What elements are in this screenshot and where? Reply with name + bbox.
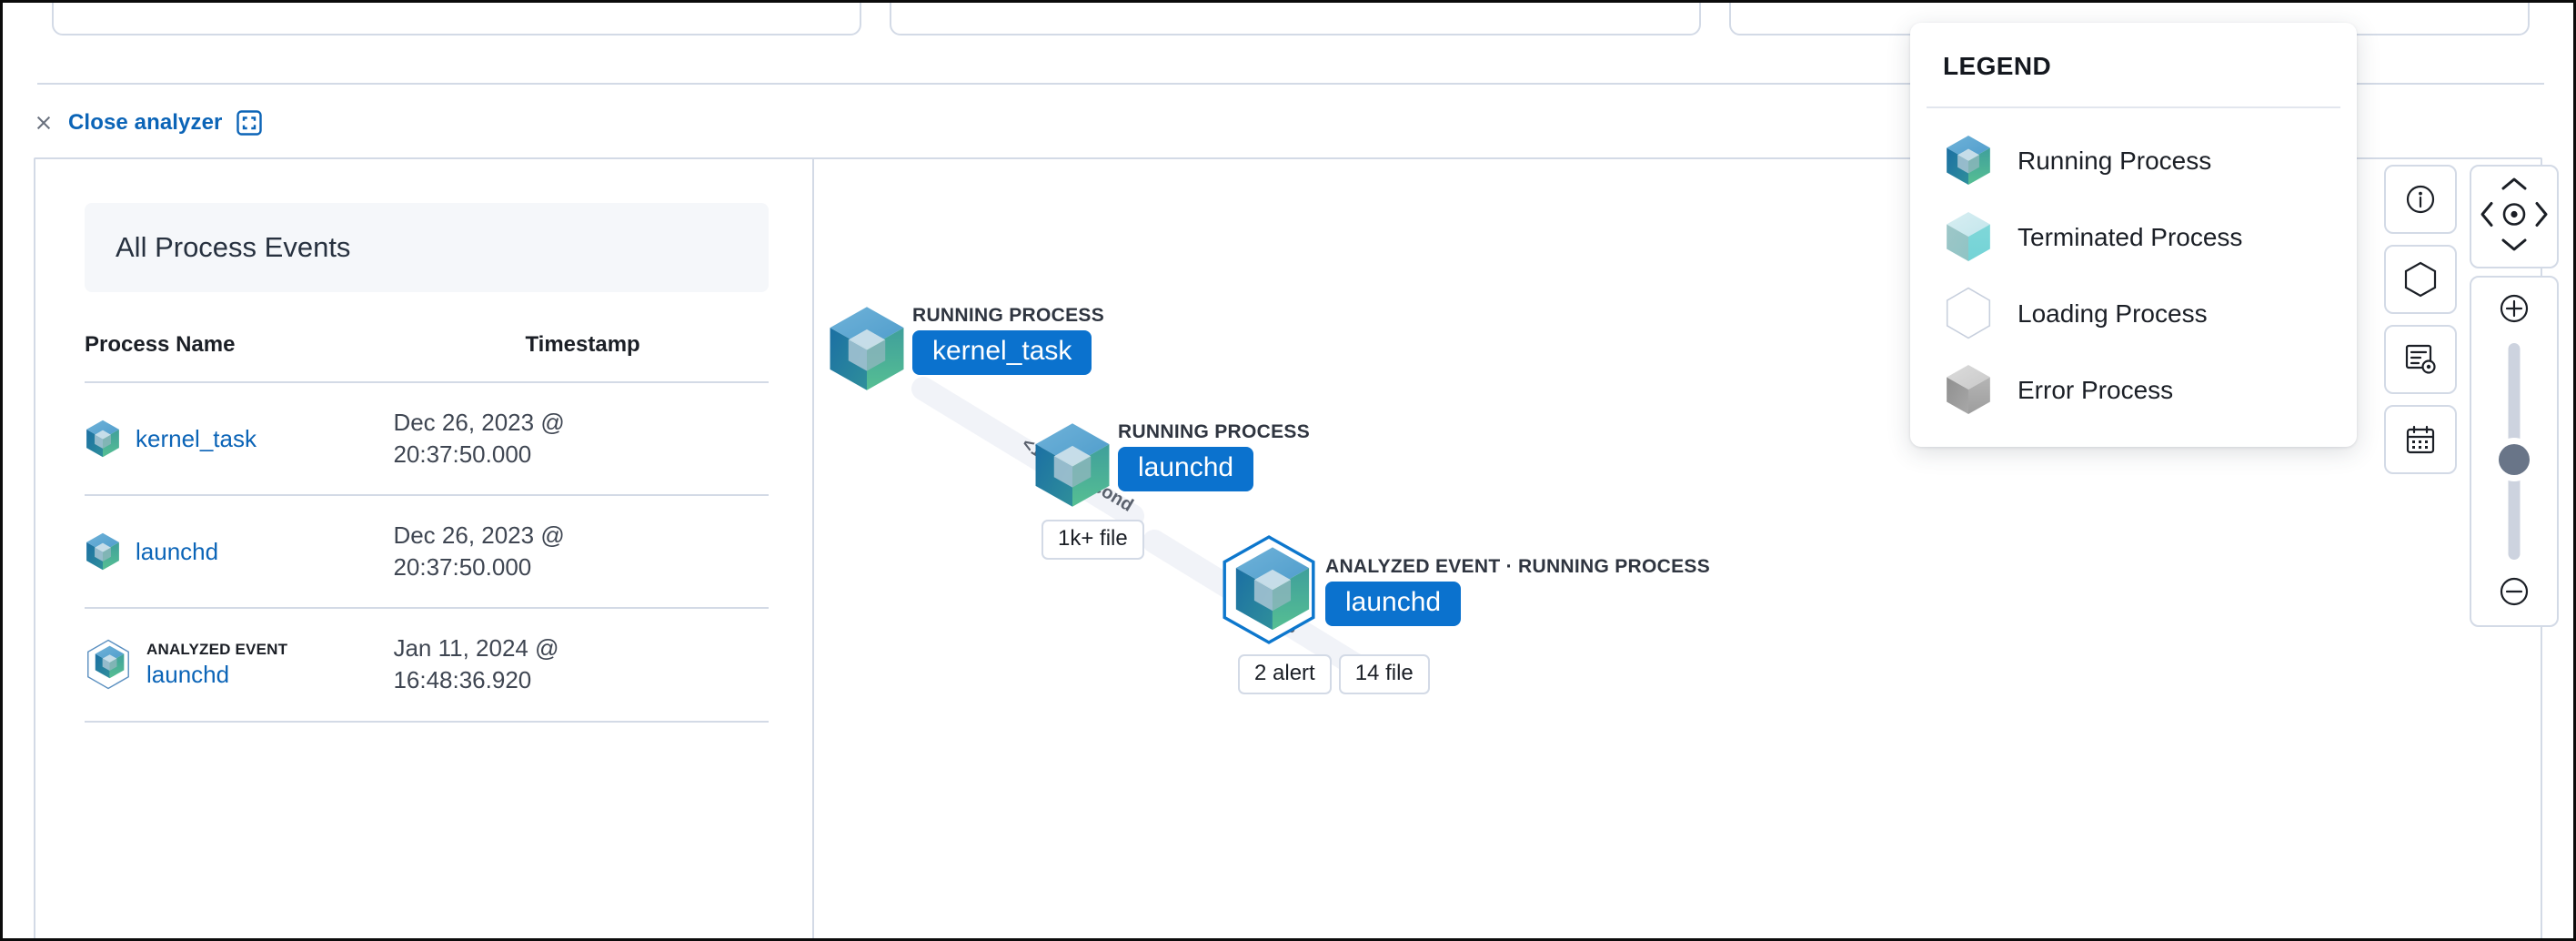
node-badges: 2 alert 14 file [1238,654,1430,694]
node-badges: 1k+ file [1041,520,1144,560]
top-card-left [52,0,861,35]
analyzer-screen: Close analyzer All Process Events Proces… [0,0,2576,941]
table-row[interactable]: kernel_task Dec 26, 2023 @ 20:37:50.000 [85,382,769,495]
node-kind-label: ANALYZED EVENT · RUNNING PROCESS [1325,556,1710,578]
analyzed-event-tag: ANALYZED EVENT [146,641,287,659]
table-row[interactable]: ANALYZED EVENT launchd Jan 11, 2024 @ 16… [85,608,769,721]
timestamp-time: 20:37:50.000 [393,551,769,583]
recenter-target-icon[interactable] [2499,199,2530,235]
hexagon-icon[interactable] [2384,245,2457,314]
node-cube-wrapper: 2 alert 14 file [1218,534,1320,650]
badge-alert-count[interactable]: 2 alert [1238,654,1332,694]
close-x-icon[interactable] [34,113,54,133]
column-header-timestamp: Timestamp [393,332,769,382]
running-process-cube-icon [1032,421,1112,509]
fullscreen-expand-icon[interactable] [236,110,262,136]
chevron-down-icon[interactable] [2501,237,2528,258]
zoom-out-minus-icon[interactable] [2496,573,2532,614]
table-header-row: Process Name Timestamp [85,332,769,382]
node-cube-wrapper [827,305,907,397]
legend-item-loading-process: Loading Process [1943,287,2324,339]
zoom-slider-control[interactable] [2470,276,2559,627]
process-name-link[interactable]: launchd [136,538,218,566]
error-process-cube-icon [1943,363,1994,416]
running-process-cube-icon [85,532,121,571]
legend-item-error-process: Error Process [1943,363,2324,416]
column-header-process-name: Process Name [85,332,393,382]
node-cube-wrapper: 1k+ file [1032,421,1112,513]
terminated-process-cube-icon [1943,210,1994,263]
graph-node-kernel-task[interactable]: RUNNING PROCESS kernel_task [827,305,1104,397]
timestamp-time: 16:48:36.920 [393,664,769,696]
process-name-link[interactable]: kernel_task [136,425,257,453]
node-name-pill[interactable]: kernel_task [912,330,1092,375]
events-panel-header: All Process Events [85,203,769,292]
graph-node-launchd-analyzed[interactable]: 2 alert 14 file ANALYZED EVENT · RUNNING… [1218,534,1710,650]
zoom-slider-thumb[interactable] [2499,444,2530,475]
legend-item-running-process: Running Process [1943,134,2324,187]
timestamp-date: Dec 26, 2023 @ [393,407,769,439]
legend-item-label: Loading Process [2018,298,2208,329]
process-events-table: Process Name Timestamp [85,332,769,723]
top-card-middle [890,0,1701,35]
graph-controls [2384,165,2559,627]
calendar-icon[interactable] [2384,405,2457,474]
running-process-cube-icon [85,420,121,458]
badge-file-count[interactable]: 14 file [1339,654,1430,694]
process-name-link[interactable]: launchd [146,661,287,689]
node-name-pill[interactable]: launchd [1325,582,1461,626]
analyzed-event-cube-icon [1218,534,1320,645]
legend-item-label: Terminated Process [2018,221,2242,253]
timestamp-date: Jan 11, 2024 @ [393,632,769,664]
legend-item-terminated-process: Terminated Process [1943,210,2324,263]
loading-process-hexagon-icon [1943,287,1994,339]
badge-file-count[interactable]: 1k+ file [1041,520,1144,560]
close-analyzer-button[interactable]: Close analyzer [68,110,222,136]
pan-control[interactable] [2470,165,2559,268]
running-process-cube-icon [1943,134,1994,187]
legend-item-label: Running Process [2018,145,2211,177]
legend-item-label: Error Process [2018,374,2173,406]
info-icon[interactable] [2384,165,2457,234]
node-kind-label: RUNNING PROCESS [1118,421,1310,443]
node-kind-label: RUNNING PROCESS [912,305,1104,327]
analyzer-toolbar: Close analyzer [34,110,262,136]
chevron-up-icon[interactable] [2501,176,2528,197]
chevron-left-icon[interactable] [2479,201,2495,233]
table-row[interactable]: launchd Dec 26, 2023 @ 20:37:50.000 [85,495,769,608]
chevron-right-icon[interactable] [2533,201,2550,233]
page-title: All Process Events [116,231,350,264]
timestamp-time: 20:37:50.000 [393,439,769,470]
graph-node-launchd-1[interactable]: 1k+ file RUNNING PROCESS launchd [1032,421,1310,513]
list-settings-icon[interactable] [2384,325,2457,394]
events-pane: All Process Events Process Name Timestam… [35,159,814,941]
node-name-pill[interactable]: launchd [1118,447,1253,491]
legend-title: LEGEND [1910,23,2357,106]
analyzed-event-cube-icon [85,638,132,691]
zoom-in-plus-icon[interactable] [2496,290,2532,331]
legend-panel: LEGEND Running Process Terminated Proces… [1910,23,2357,447]
timestamp-date: Dec 26, 2023 @ [393,520,769,551]
running-process-cube-icon [827,305,907,392]
